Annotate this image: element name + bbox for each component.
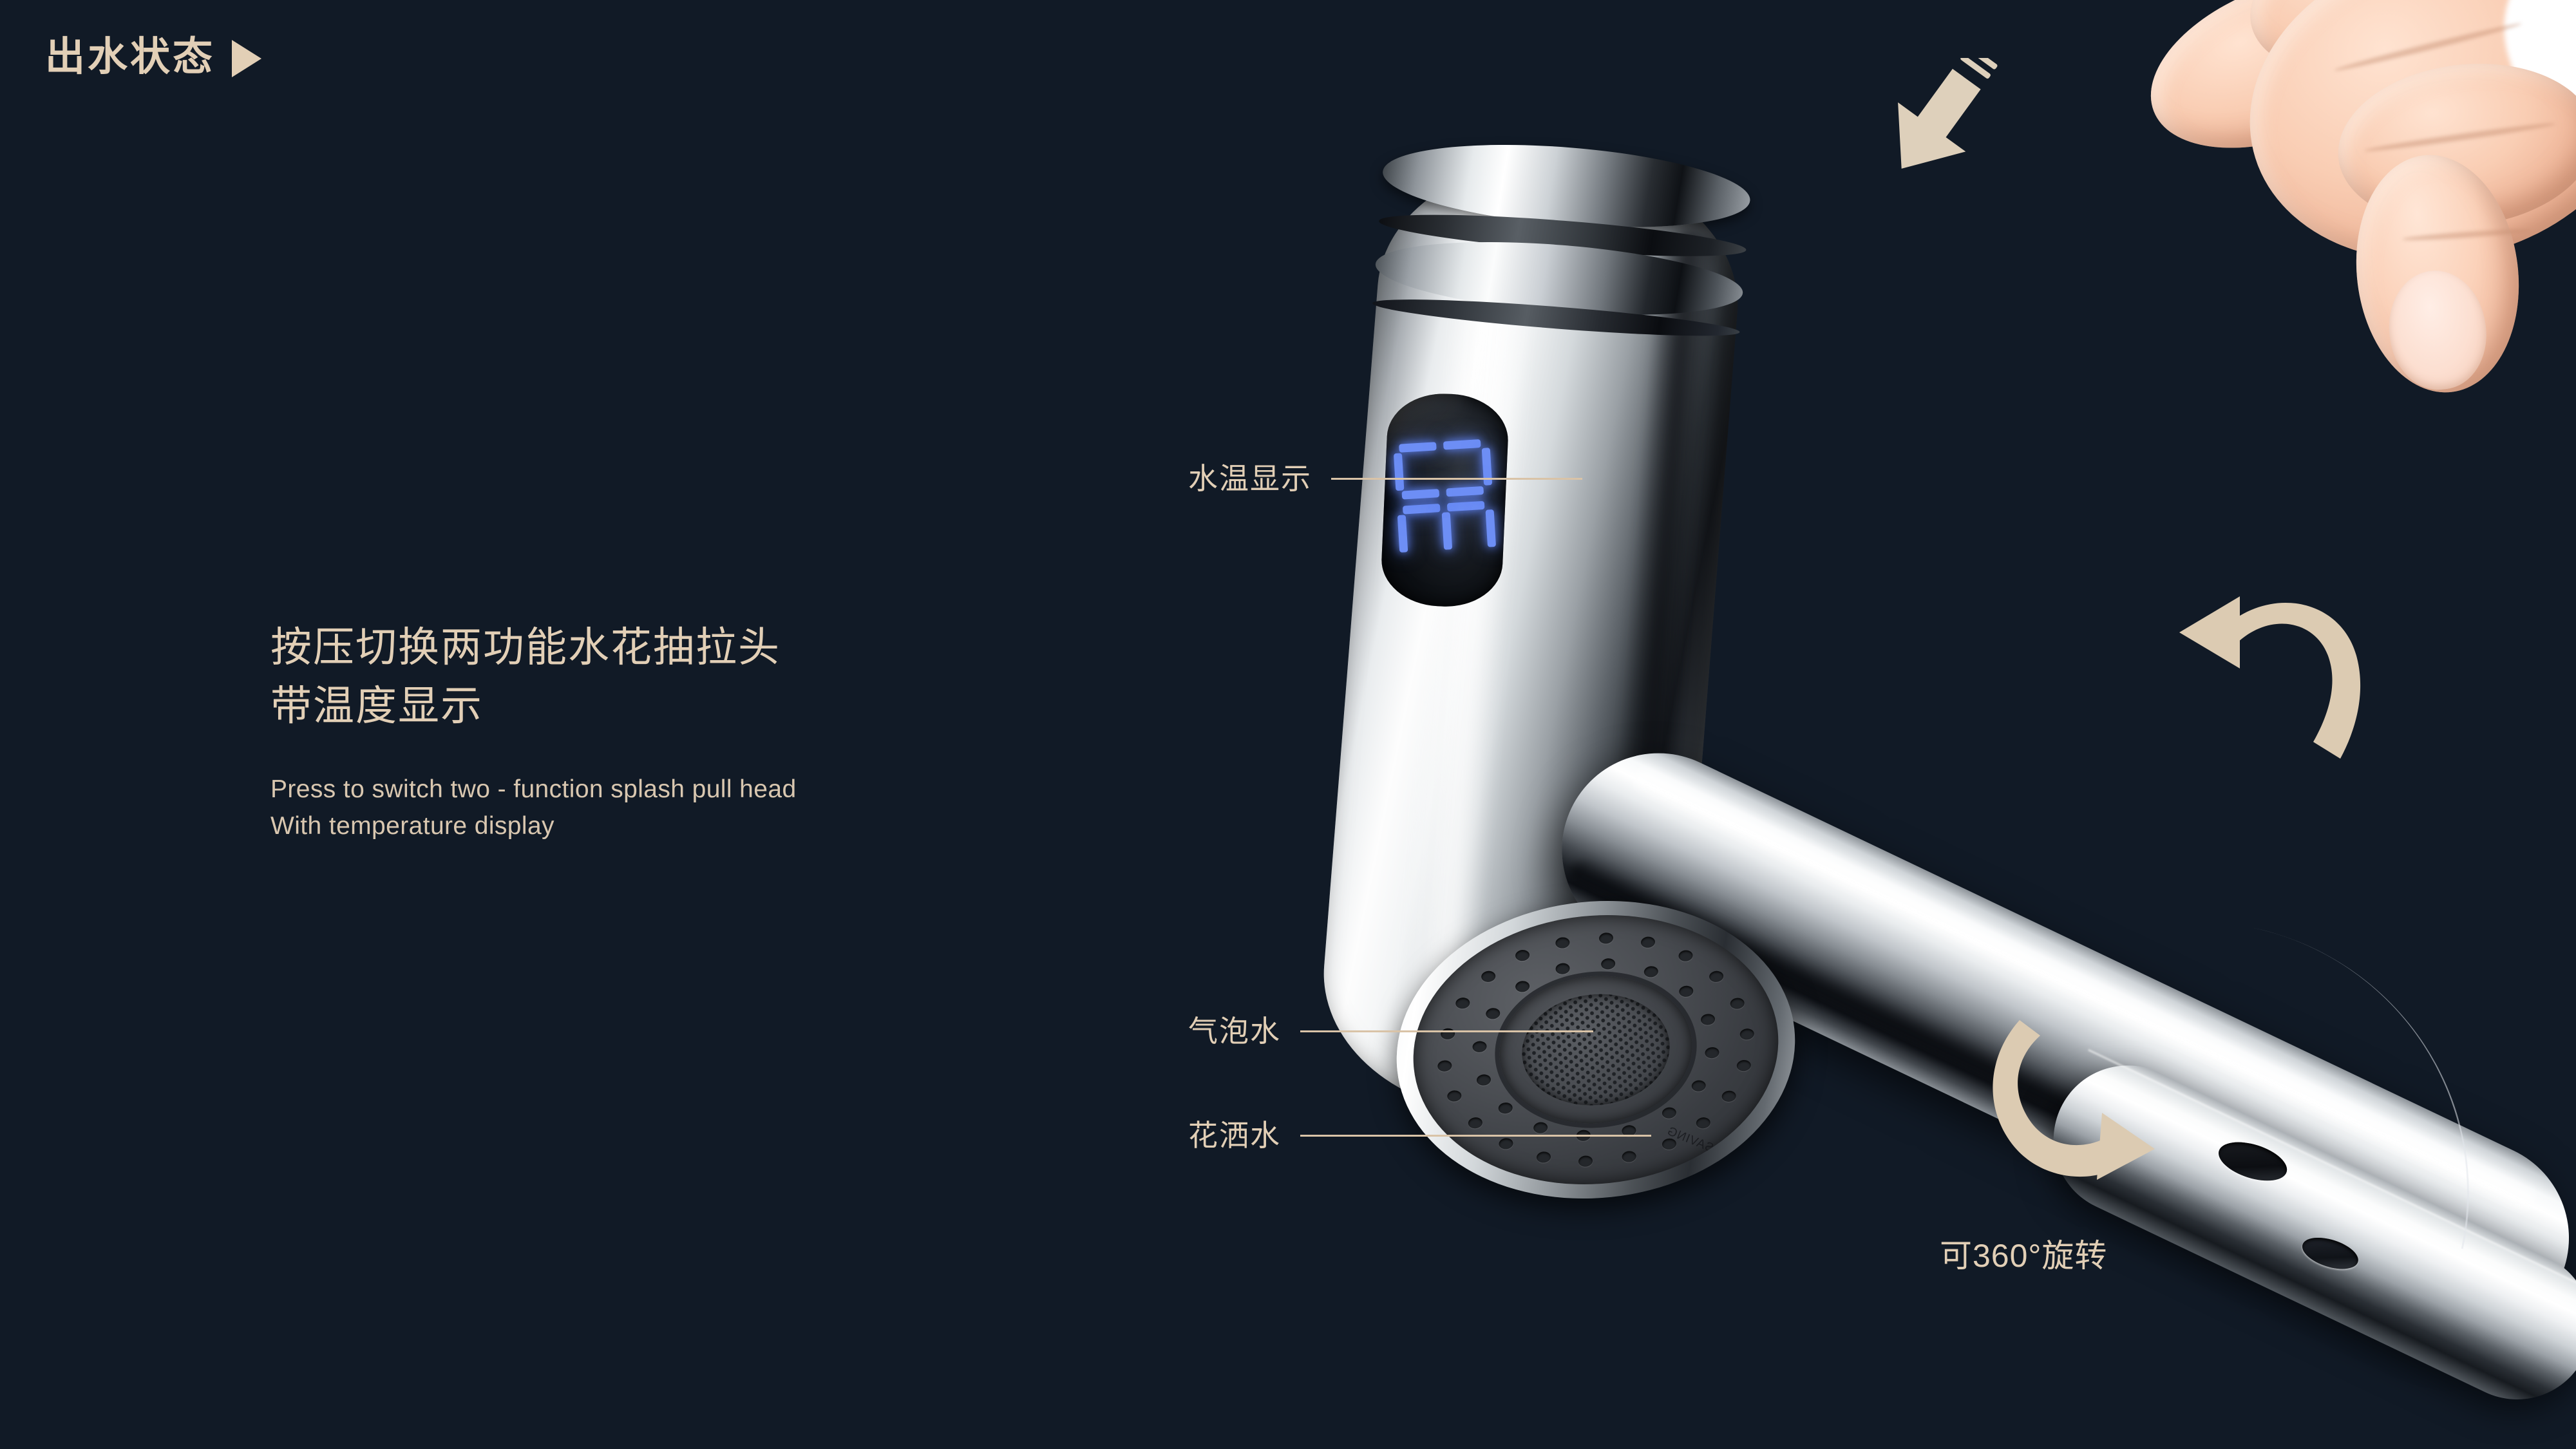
display-glass-glare [1379, 392, 1466, 472]
aerator-spray-hole [1476, 1074, 1492, 1086]
aerator-spray-hole [1455, 997, 1470, 1009]
headline-cn-line-1: 按压切换两功能水花抽拉头 [270, 618, 1108, 677]
subhead-en-line-2: With temperature display [270, 808, 1108, 845]
aerator-outer-spray-plate: WATER SAVING [1400, 897, 1792, 1202]
aerator-spray-hole [1739, 1028, 1755, 1040]
seven-segment-digit [1397, 500, 1497, 562]
aerator-spray-hole [1679, 985, 1694, 997]
faucet-sprayer-head [1312, 150, 1748, 1154]
callout-360-rotation: 可360°旋转 [1940, 1230, 2107, 1276]
temperature-display-panel [1379, 392, 1510, 609]
callout-bubble-water: 气泡水 [1188, 1016, 1593, 1046]
faucet-aerator-face: WATER SAVING [1382, 882, 1810, 1218]
feature-description-block: 按压切换两功能水花抽拉头 带温度显示 Press to switch two -… [270, 618, 1108, 845]
sprayer-head-dark-reflection [1593, 229, 1720, 1069]
aerator-spray-hole [1640, 936, 1656, 949]
sprayer-head-specular-highlight [1397, 233, 1537, 1036]
aerator-spray-hole [1497, 1102, 1513, 1114]
aerator-spray-hole [1621, 1151, 1636, 1163]
aerator-inner-ring [1492, 967, 1700, 1133]
hand-fingernail [2382, 265, 2492, 395]
play-triangle-icon [232, 40, 261, 77]
hand-crease [2333, 21, 2523, 73]
leader-line [1331, 478, 1582, 480]
rotate-clockwise-arrow-icon [1964, 992, 2183, 1185]
callout-label: 花洒水 [1188, 1121, 1281, 1150]
hand-crease [2402, 227, 2531, 242]
sprayer-collar-ring-mid [1373, 231, 1745, 327]
aerator-spray-hole [1704, 1046, 1719, 1059]
aerator-engraving-text: WATER SAVING [1665, 1124, 1762, 1175]
aerator-spray-hole [1600, 958, 1616, 970]
aerator-spray-hole [1662, 1137, 1677, 1150]
hose-recess-upper [2214, 1135, 2292, 1188]
subhead-en-line-1: Press to switch two - function splash pu… [270, 772, 1108, 808]
product-feature-slide: WATER SAVING 出水状态 按压切换两功能水花抽拉头 带温度显示 Pre… [0, 0, 2576, 1449]
aerator-spray-hole [1515, 980, 1530, 992]
headline-cn-line-2: 带温度显示 [270, 677, 1108, 735]
aerator-chrome-rim [1382, 882, 1810, 1218]
callout-label: 气泡水 [1188, 1016, 1281, 1046]
aerator-spray-hole [1555, 936, 1571, 949]
aerator-spray-hole [1643, 965, 1659, 978]
sprayer-collar-groove-lower [1372, 292, 1741, 343]
aerator-spray-hole [1691, 1079, 1707, 1092]
sprayer-head-body [1314, 150, 1748, 1128]
hand-finger-lower [2330, 52, 2576, 238]
callout-label: 水温显示 [1188, 464, 1312, 493]
aerator-spray-hole [1555, 963, 1570, 975]
aerator-spray-hole [1515, 949, 1530, 961]
sprayer-collar-ring-top [1380, 133, 1754, 240]
hand-pressing-icon [2054, 0, 2576, 374]
aerator-spray-hole [1678, 949, 1694, 961]
aerator-spray-hole [1437, 1059, 1453, 1072]
hose-recess-lower [2298, 1232, 2362, 1275]
press-down-arrow-icon [1858, 58, 2006, 187]
aerator-bubble-mesh [1517, 987, 1676, 1112]
page-title: 出水状态 [45, 37, 215, 77]
callout-temperature-display: 水温显示 [1188, 464, 1582, 493]
hand-palm [2216, 0, 2576, 301]
aerator-spray-hole [1536, 1151, 1551, 1163]
hand-background-gap [2482, 0, 2576, 140]
callout-shower-water: 花洒水 [1188, 1121, 1651, 1150]
slide-header: 出水状态 [45, 37, 261, 77]
temperature-digits [1393, 439, 1497, 562]
hand-crease [2364, 120, 2556, 154]
aerator-spray-hole [1481, 971, 1496, 983]
leader-line [1300, 1135, 1651, 1137]
aerator-spray-hole [1578, 1155, 1594, 1168]
aerator-spray-hole [1709, 971, 1725, 983]
aerator-spray-hole [1721, 1090, 1737, 1102]
aerator-spray-hole [1730, 997, 1745, 1009]
rotate-counterclockwise-arrow-icon [2164, 573, 2383, 779]
aerator-spray-hole [1598, 932, 1614, 944]
hose-edge-reflection [2197, 928, 2519, 1249]
hand-finger-upper [2126, 0, 2439, 182]
aerator-spray-hole [1696, 1117, 1711, 1129]
sprayer-collar-groove-upper [1378, 206, 1747, 265]
hand-finger-top [2233, 0, 2564, 104]
aerator-spray-hole [1736, 1059, 1752, 1072]
aerator-spray-hole [1446, 1090, 1462, 1102]
aerator-spray-hole [1662, 1106, 1677, 1119]
hand-index-fingertip [2343, 146, 2532, 402]
leader-line [1300, 1030, 1593, 1032]
aerator-spray-hole [1700, 1014, 1716, 1026]
